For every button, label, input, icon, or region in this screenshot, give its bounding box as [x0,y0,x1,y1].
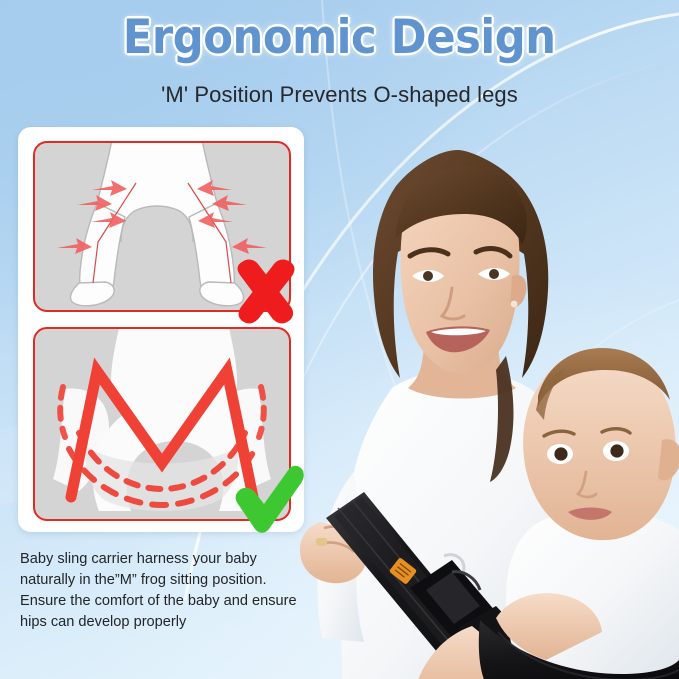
diagram-card [18,127,304,532]
mother-and-baby-photo [300,120,679,679]
page-subtitle: 'M' Position Prevents O-shaped legs [0,82,679,108]
page-title-wrap: Ergonomic Design [0,14,679,61]
o-shaped-legs-illustration [35,143,289,310]
m-position-illustration [35,329,289,519]
panel-correct-inner [35,329,289,519]
mother-earring [511,301,518,308]
caption-text: Baby sling carrier harness your baby nat… [20,549,312,633]
product-marketing-poster: Ergonomic Design 'M' Position Prevents O… [0,0,679,679]
page-title: Ergonomic Design [123,14,556,61]
panel-incorrect-o-shape [33,141,291,312]
panel-incorrect-inner [35,143,289,310]
panel-correct-m-position [33,327,291,521]
mother-ring [316,538,327,546]
